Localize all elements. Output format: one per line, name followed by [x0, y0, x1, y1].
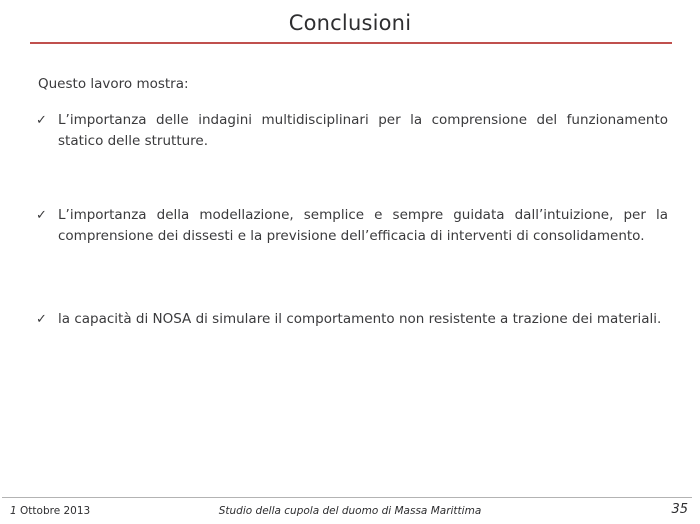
footer-page-number: 35 [671, 501, 688, 519]
intro-text: Questo lavoro mostra: [38, 70, 668, 94]
list-item-text: L’importanza delle indagini multidiscipl… [58, 110, 668, 152]
footer-subject-title: Studio della cupola del duomo di Massa M… [0, 503, 700, 519]
footer-divider [2, 497, 692, 498]
list-item: ✓ la capacità di NOSA di simulare il com… [36, 309, 668, 330]
slide-footer: 1 Ottobre 2013 Studio della cupola del d… [0, 503, 700, 524]
presentation-slide: Conclusioni Questo lavoro mostra: ✓ L’im… [0, 0, 700, 524]
title-underline-rule [30, 42, 672, 44]
checkmark-icon: ✓ [36, 309, 50, 330]
slide-title-area: Conclusioni [0, 10, 700, 36]
checkmark-icon: ✓ [36, 205, 50, 226]
list-item: ✓ L’importanza delle indagini multidisci… [36, 110, 668, 152]
slide-body: Questo lavoro mostra: ✓ L’importanza del… [36, 70, 668, 330]
conclusions-list: ✓ L’importanza delle indagini multidisci… [36, 110, 668, 330]
page-title: Conclusioni [0, 10, 700, 36]
checkmark-icon: ✓ [36, 110, 50, 131]
list-item: ✓ L’importanza della modellazione, sempl… [36, 205, 668, 247]
list-item-text: L’importanza della modellazione, semplic… [58, 205, 668, 247]
list-item-text: la capacità di NOSA di simulare il compo… [58, 309, 668, 330]
